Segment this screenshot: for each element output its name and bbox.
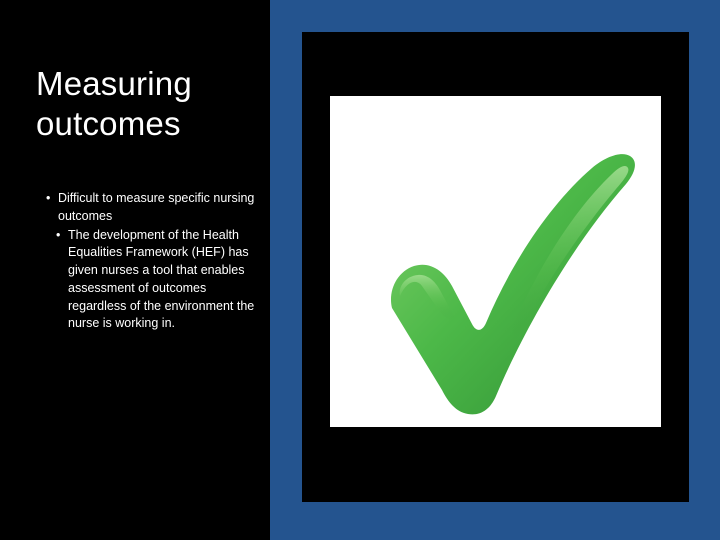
title-line-1: Measuring (36, 64, 261, 104)
list-item-text: Difficult to measure specific nursing ou… (58, 190, 261, 226)
list-item: • Difficult to measure specific nursing … (46, 190, 261, 226)
title-line-2: outcomes (36, 104, 261, 144)
list-item: • The development of the Health Equaliti… (56, 227, 261, 334)
bullet-list: • Difficult to measure specific nursing … (46, 190, 261, 334)
list-item-text: The development of the Health Equalities… (68, 227, 261, 334)
slide: Measuring outcomes • Difficult to measur… (0, 0, 720, 540)
slide-title: Measuring outcomes (36, 64, 261, 145)
check-mark-image (330, 96, 661, 427)
bullet-dot-icon: • (46, 190, 58, 208)
bullet-dot-icon: • (56, 227, 68, 245)
check-mark-icon (330, 96, 661, 427)
